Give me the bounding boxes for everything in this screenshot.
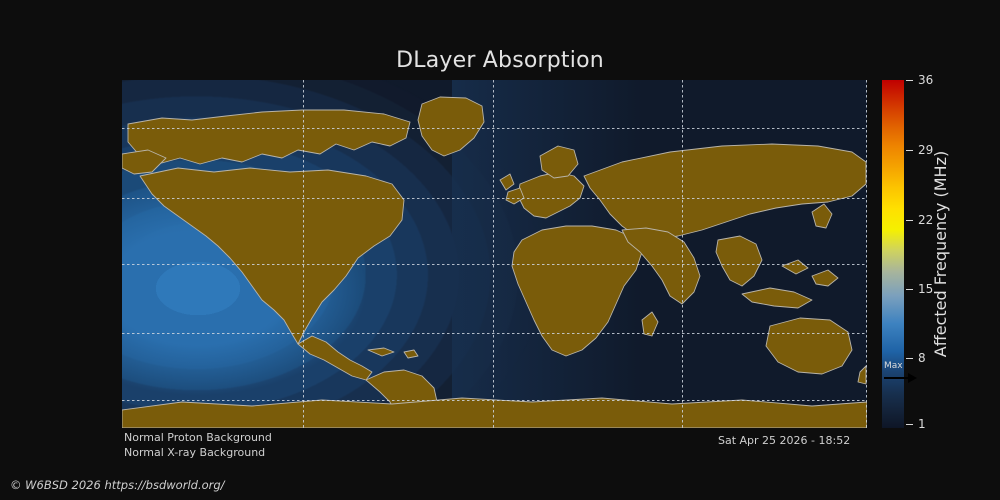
timestamp: Sat Apr 25 2026 - 18:52 (718, 434, 850, 447)
max-marker-label: Max (884, 362, 918, 371)
graticule-horizontal (122, 128, 867, 129)
graticule-vertical (866, 80, 867, 428)
graticule-vertical (303, 80, 304, 428)
status-proton: Normal Proton Background (124, 430, 272, 445)
colorbar-tick-label: 8 (918, 351, 926, 365)
colorbar-tick-label: 1 (918, 417, 926, 431)
page-title: DLayer Absorption (0, 48, 1000, 73)
footer-credit: © W6BSD 2026 https://bsdworld.org/ (10, 478, 225, 492)
colorbar-tick (906, 220, 913, 221)
colorbar-axis-label: Affected Frequency (MHz) (930, 80, 952, 428)
page-root: DLayer Absorption (0, 0, 1000, 500)
colorbar-tick (906, 80, 913, 81)
status-block: Normal Proton Background Normal X-ray Ba… (124, 430, 272, 460)
coastline-layer (122, 80, 867, 428)
graticule-horizontal (122, 400, 867, 401)
graticule-horizontal (122, 333, 867, 334)
colorbar-tick (906, 289, 913, 290)
status-xray: Normal X-ray Background (124, 445, 272, 460)
graticule-horizontal (122, 198, 867, 199)
graticule-horizontal (122, 264, 867, 265)
colorbar-tick (906, 424, 913, 425)
colorbar-tick (906, 150, 913, 151)
graticule-vertical (682, 80, 683, 428)
graticule-vertical (493, 80, 494, 428)
absorption-map[interactable] (122, 80, 867, 428)
max-arrow-icon (884, 373, 918, 382)
max-marker: Max (884, 362, 918, 386)
colorbar-tick (906, 358, 913, 359)
